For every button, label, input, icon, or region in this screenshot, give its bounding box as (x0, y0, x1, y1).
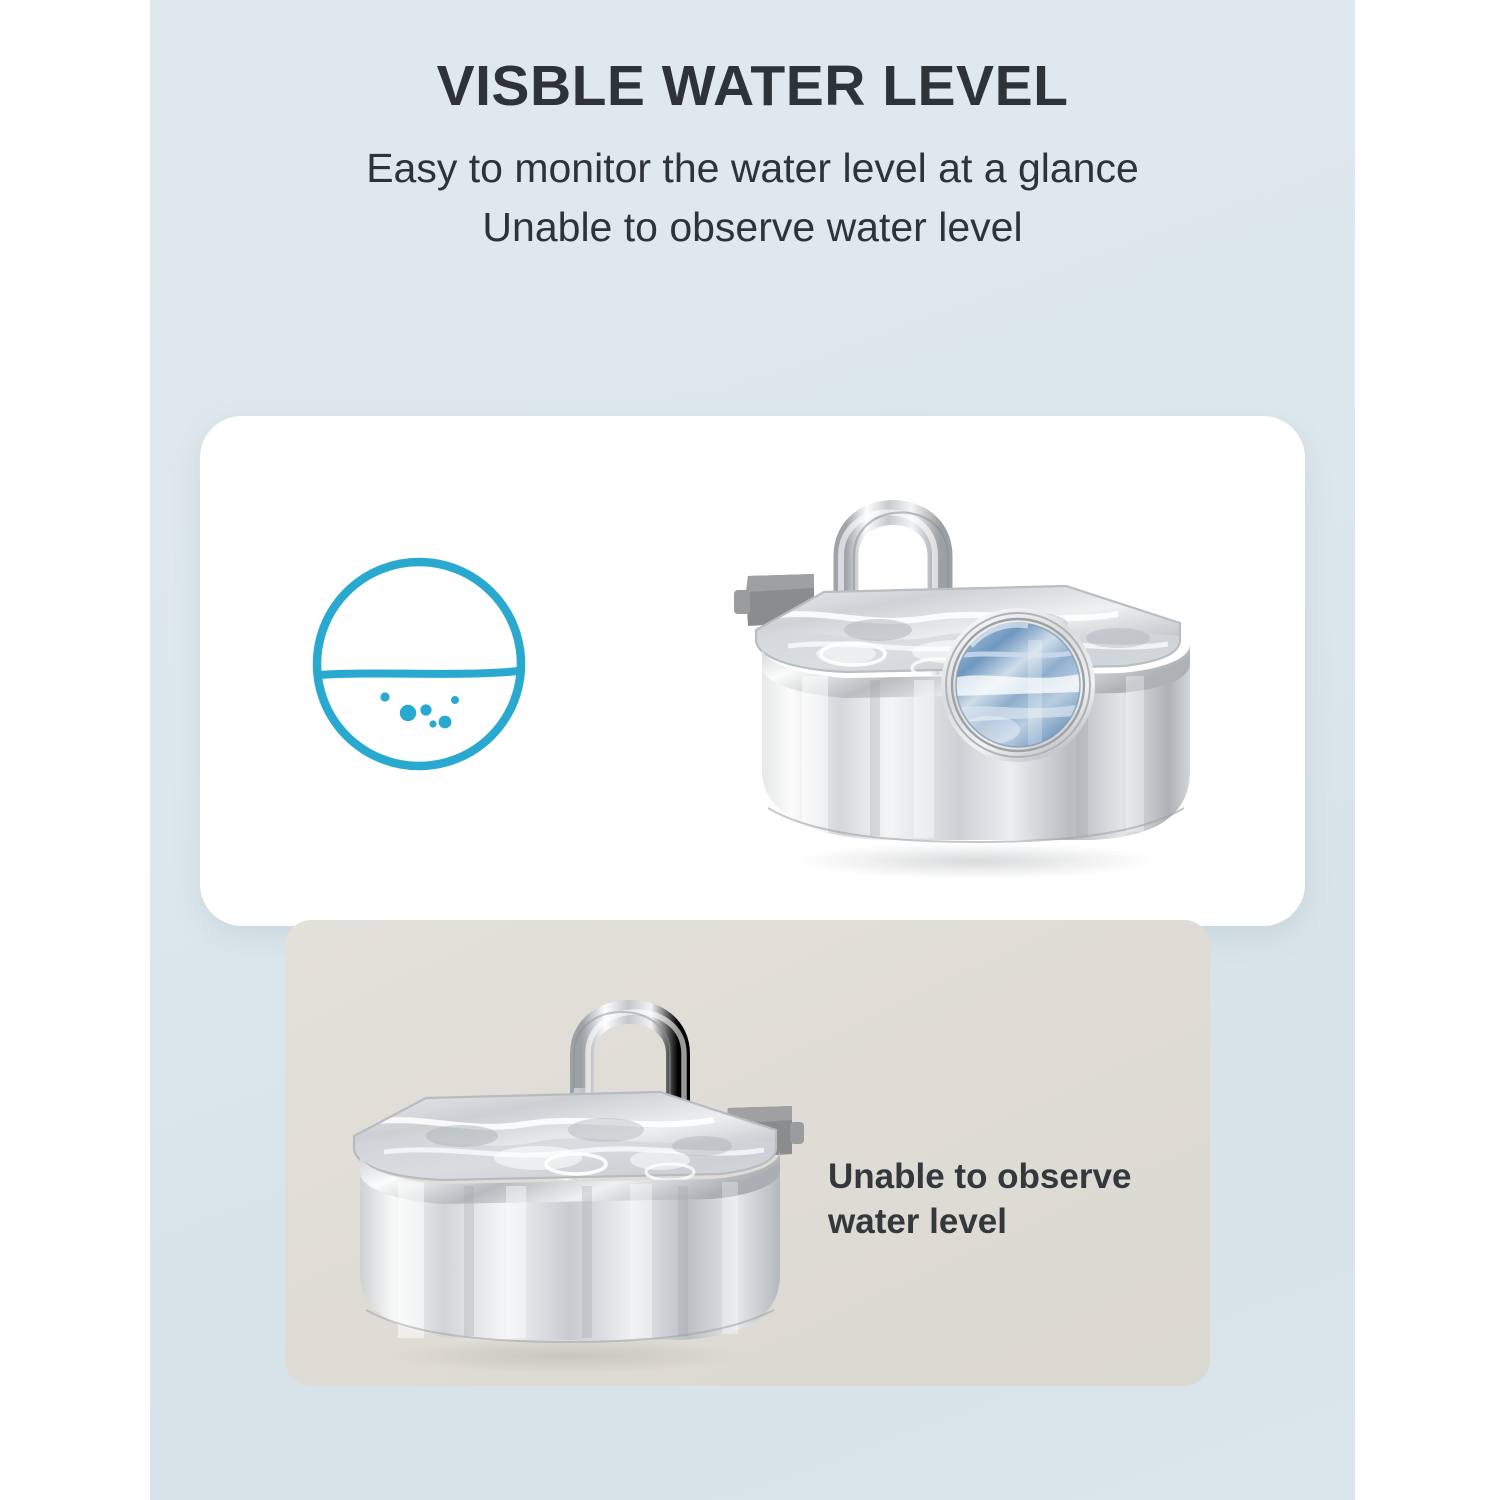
water-level-window (941, 608, 1095, 762)
bad-example-caption: Unable to observe water level (828, 1155, 1198, 1245)
caption-line-2: water level (828, 1200, 1198, 1245)
product-shadow (794, 843, 1158, 879)
page-title: VISBLE WATER LEVEL (150, 56, 1355, 118)
product-feature-graphic: VISBLE WATER LEVEL Easy to monitor the w… (0, 0, 1500, 1500)
subtitle-secondary: Unable to observe water level (150, 201, 1355, 254)
pet-fountain-with-water-window (728, 440, 1220, 892)
subtitle-primary: Easy to monitor the water level at a gla… (150, 142, 1355, 195)
water-level-icon (305, 550, 533, 778)
product-shadow (390, 1339, 746, 1373)
pet-fountain-without-water-window (330, 958, 812, 1382)
caption-line-1: Unable to observe (828, 1155, 1198, 1200)
header-block: VISBLE WATER LEVEL Easy to monitor the w… (150, 56, 1355, 254)
